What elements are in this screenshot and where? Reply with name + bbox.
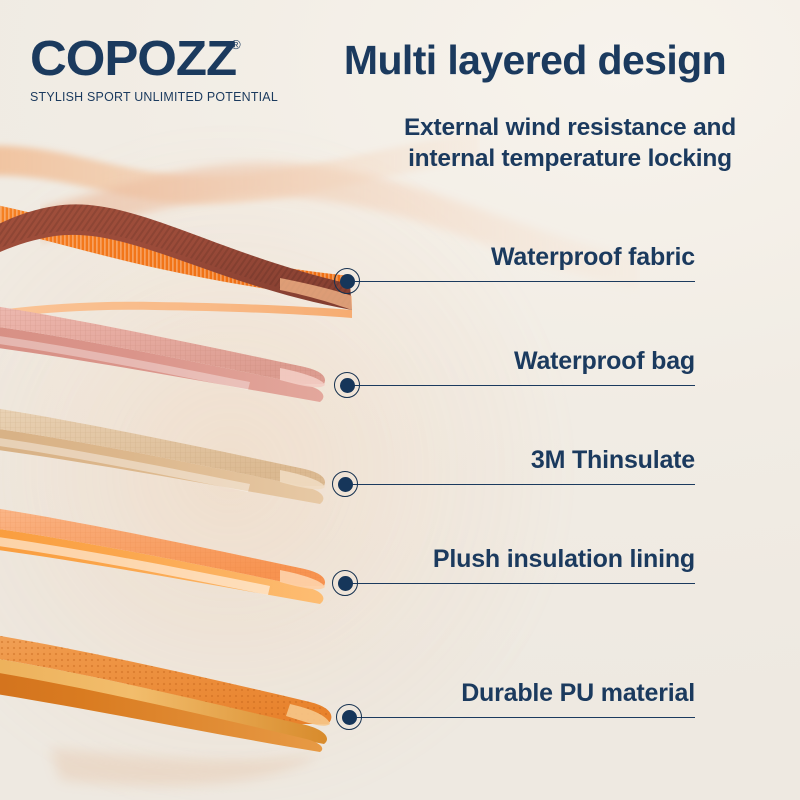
callout-marker-icon[interactable] (334, 268, 360, 294)
callout-marker-icon[interactable] (332, 471, 358, 497)
callout-leader-line (345, 583, 695, 584)
brand-logo: COPOZZ ® STYLISH SPORT UNLIMITED POTENTI… (30, 36, 330, 104)
callout-label: Waterproof fabric (491, 243, 695, 272)
logo-wordmark-row: COPOZZ ® (30, 36, 330, 83)
page-subtitle-line-2: internal temperature locking (370, 143, 770, 174)
callout-marker-icon[interactable] (336, 704, 362, 730)
logo-wordmark: COPOZZ (30, 36, 236, 83)
callout-label: 3M Thinsulate (531, 446, 695, 475)
brand-tagline: STYLISH SPORT UNLIMITED POTENTIAL (30, 90, 329, 104)
infographic-canvas: COPOZZ ® STYLISH SPORT UNLIMITED POTENTI… (0, 0, 800, 800)
page-subtitle: External wind resistance and internal te… (370, 112, 770, 175)
callout-label: Plush insulation lining (433, 545, 695, 574)
page-title: Multi layered design (300, 38, 770, 82)
callout-leader-line (345, 484, 695, 485)
callout-leader-line (347, 281, 695, 282)
callout-marker-icon[interactable] (334, 372, 360, 398)
page-subtitle-line-1: External wind resistance and (370, 112, 770, 143)
callout-label: Waterproof bag (514, 347, 695, 376)
callout-marker-icon[interactable] (332, 570, 358, 596)
callout-label: Durable PU material (461, 679, 695, 708)
callout-leader-line (349, 717, 695, 718)
callout-leader-line (347, 385, 695, 386)
